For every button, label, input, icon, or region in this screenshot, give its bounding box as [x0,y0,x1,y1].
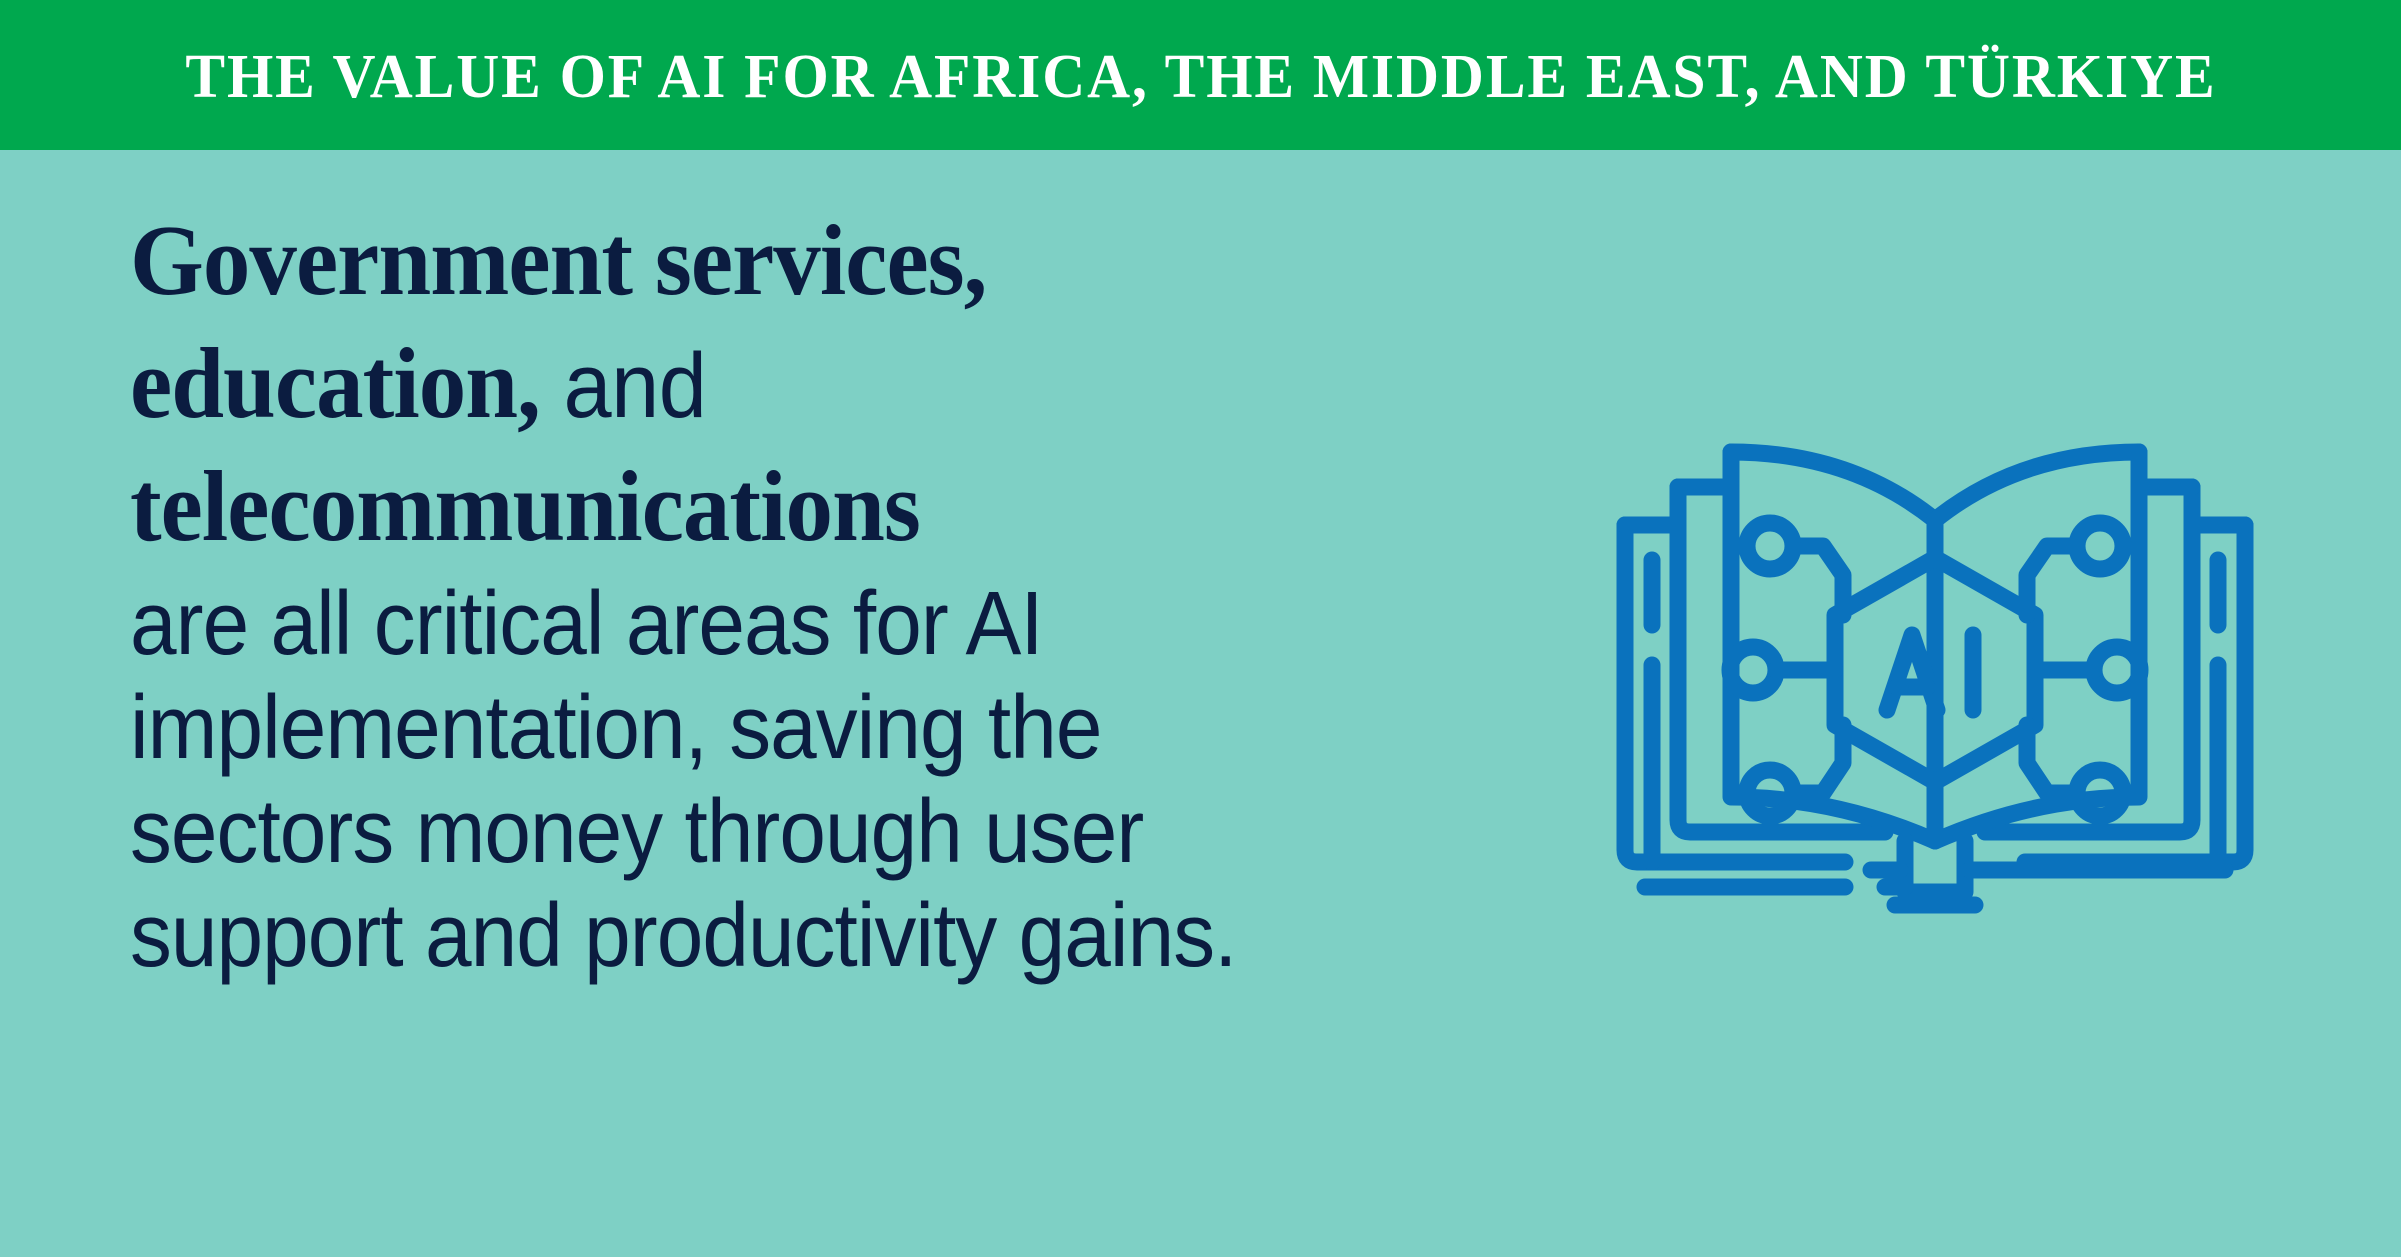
connector-top-left [1793,546,1843,615]
connector-top-right [2027,546,2077,615]
paragraph-line-4: support and productivity gains. [130,891,1432,981]
connector-bottom-right [2027,725,2077,793]
headline-line-3: telecommunications [130,456,1446,557]
book-page-right-top-curve [1935,452,2139,520]
header-banner: THE VALUE OF AI FOR AFRICA, THE MIDDLE E… [0,0,2401,150]
headline-line-1: Government services, [130,210,1446,311]
infographic-card: THE VALUE OF AI FOR AFRICA, THE MIDDLE E… [0,0,2401,1257]
ai-open-book-icon [1595,425,2275,925]
headline-bold-2: education, [130,327,540,439]
ai-open-book-graphic [1595,425,2275,925]
paragraph-line-2: implementation, saving the [130,683,1432,773]
headline-line-2: education, and [130,333,1446,434]
headline-regular-2: and [540,335,706,437]
paragraph-line-1: are all critical areas for AI [130,579,1432,669]
connector-bottom-left [1793,725,1843,793]
paragraph-line-3: sectors money through user [130,787,1432,877]
book-page-left-top-curve [1731,452,1935,520]
headline-bold-3: telecommunications [130,450,920,562]
message-text-block: Government services, education, and tele… [130,210,1530,995]
headline-bold-1: Government services, [130,204,986,316]
body-panel: Government services, education, and tele… [0,150,2401,1257]
banner-title: THE VALUE OF AI FOR AFRICA, THE MIDDLE E… [185,42,2216,108]
